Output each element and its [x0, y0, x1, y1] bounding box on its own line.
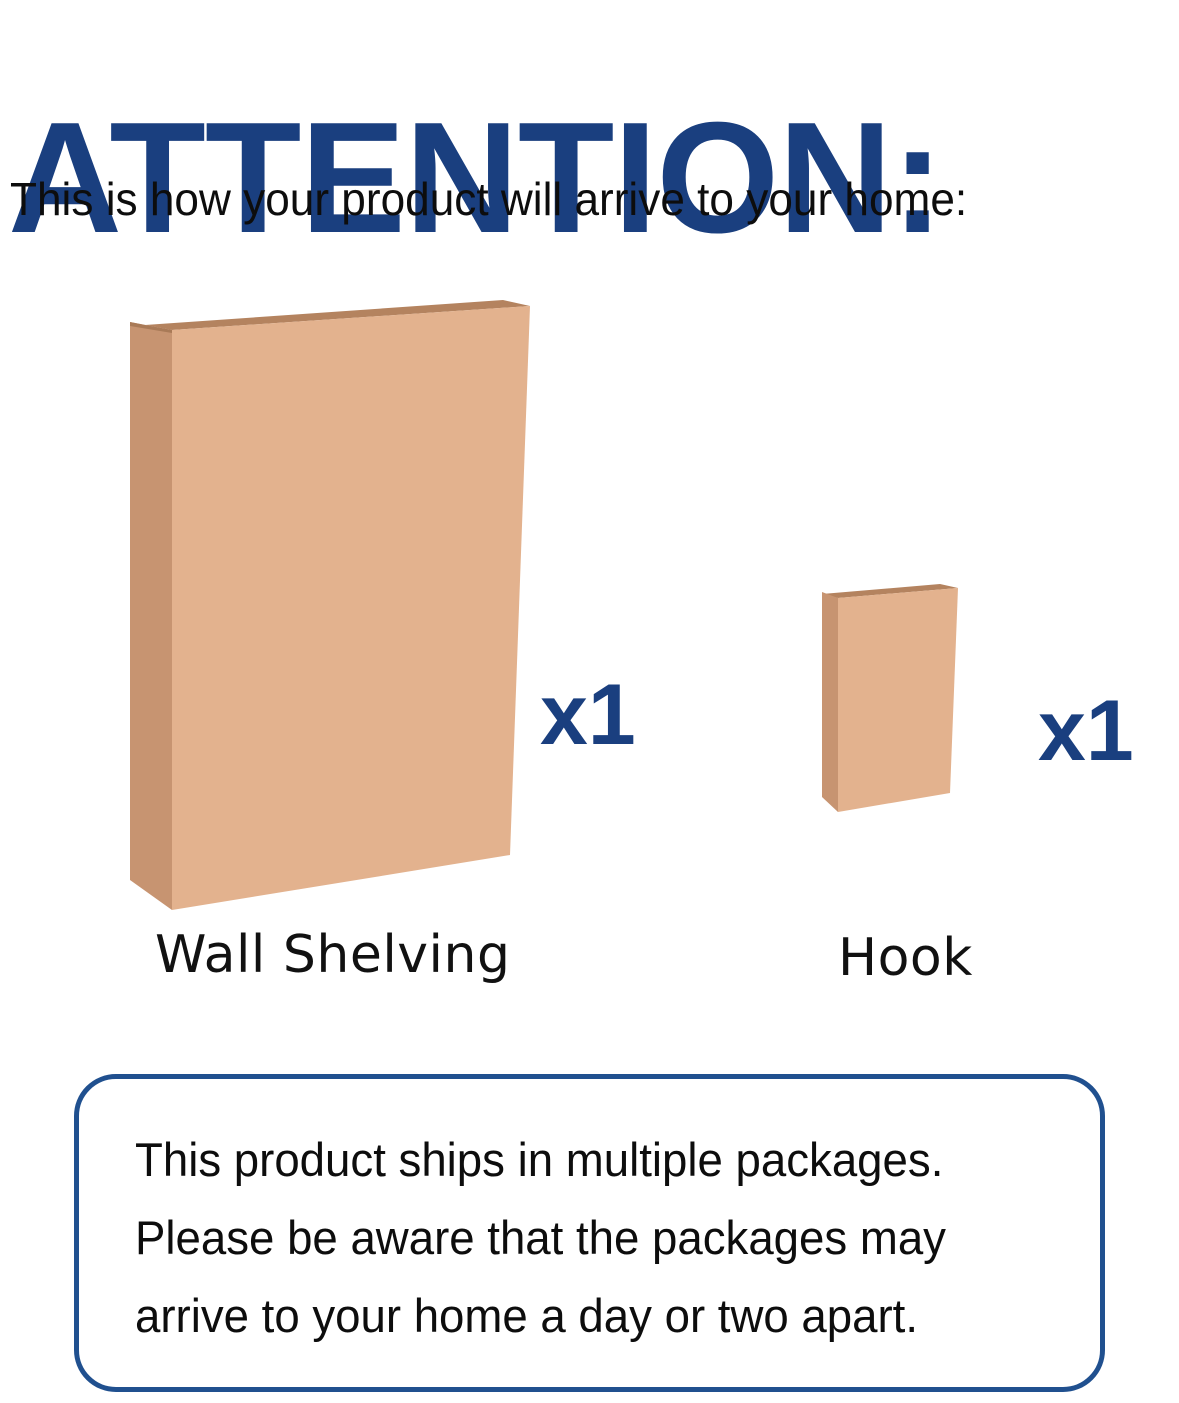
- carton-front-face: [172, 306, 530, 910]
- notice-line-2: Please be aware that the packages may: [135, 1199, 1024, 1277]
- package-label-wall-shelving: Wall Shelving: [155, 925, 510, 985]
- carton-top-face: [822, 584, 958, 598]
- carton-top-flap: [130, 322, 172, 333]
- carton-front-face: [838, 588, 958, 812]
- shipping-notice-callout: This product ships in multiple packages.…: [74, 1074, 1105, 1392]
- notice-line-3: arrive to your home a day or two apart.: [135, 1277, 1024, 1355]
- subtitle-text: This is how your product will arrive to …: [10, 172, 1128, 226]
- package-label-hook: Hook: [838, 928, 973, 988]
- quantity-badge-wall-shelving: x1: [540, 672, 636, 758]
- carton-top-face: [145, 300, 530, 330]
- carton-side-face: [130, 322, 172, 910]
- shipping-attention-graphic: ATTENTION: This is how your product will…: [0, 0, 1179, 1403]
- carton-side-face: [822, 592, 838, 812]
- quantity-badge-hook: x1: [1038, 688, 1134, 774]
- carton-hook: [822, 584, 958, 812]
- notice-line-1: This product ships in multiple packages.: [135, 1121, 1024, 1199]
- carton-wall-shelving: [130, 300, 530, 910]
